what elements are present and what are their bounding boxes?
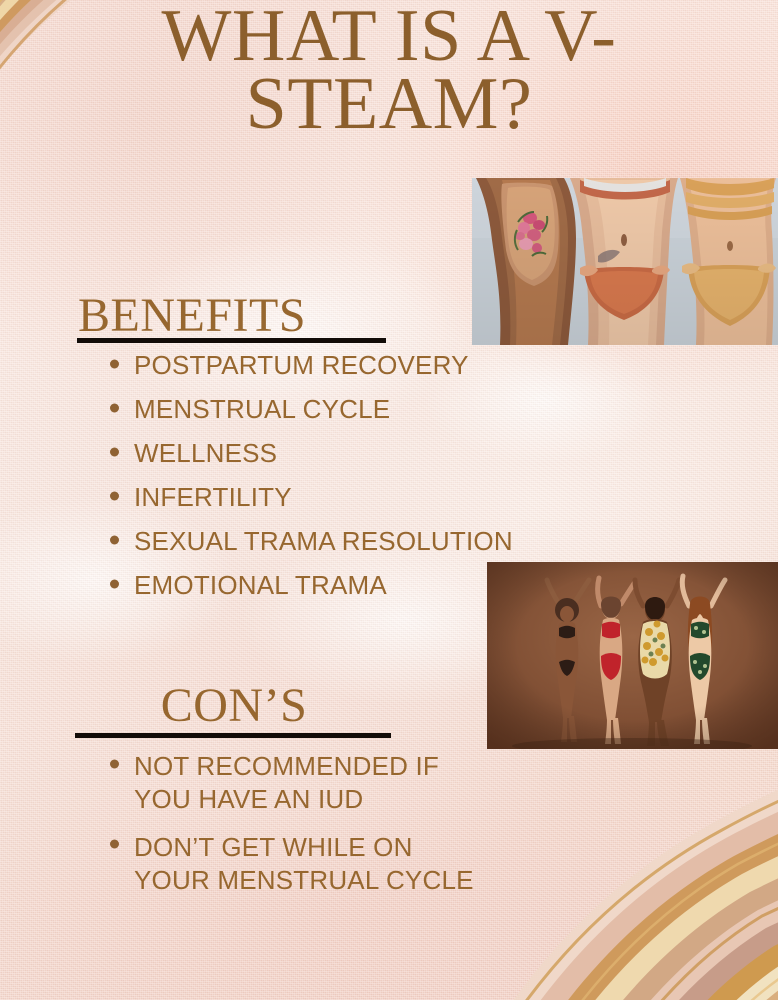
- list-item: POSTPARTUM RECOVERY: [104, 350, 624, 381]
- list-item: EMOTIONAL TRAMA: [104, 570, 624, 601]
- list-item-label: MENSTRUAL CYCLE: [134, 394, 390, 425]
- list-item: NOT RECOMMENDED IF YOU HAVE AN IUD: [104, 750, 494, 817]
- list-item-label: WELLNESS: [134, 438, 277, 469]
- bullet-icon: [110, 840, 119, 849]
- page-title-line-2: STEAM?: [0, 70, 778, 138]
- bullet-icon: [110, 579, 119, 588]
- list-item-label: POSTPARTUM RECOVERY: [134, 350, 469, 381]
- list-item: INFERTILITY: [104, 482, 624, 513]
- cons-underline-rule: [75, 733, 391, 738]
- list-item: MENSTRUAL CYCLE: [104, 394, 624, 425]
- benefits-list: POSTPARTUM RECOVERY MENSTRUAL CYCLE WELL…: [104, 350, 624, 614]
- list-item-label: INFERTILITY: [134, 482, 292, 513]
- bullet-icon: [110, 491, 119, 500]
- list-item-label: SEXUAL TRAMA RESOLUTION: [134, 526, 513, 557]
- page-title: WHAT IS A V- STEAM?: [0, 2, 778, 138]
- list-item: DON’T GET WHILE ON YOUR MENSTRUAL CYCLE: [104, 831, 494, 898]
- list-item-label: NOT RECOMMENDED IF YOU HAVE AN IUD: [134, 751, 439, 814]
- bullet-icon: [110, 403, 119, 412]
- list-item-label: DON’T GET WHILE ON YOUR MENSTRUAL CYCLE: [134, 832, 474, 895]
- bullet-icon: [110, 359, 119, 368]
- cons-heading-text: CON’S: [78, 682, 390, 730]
- poster-canvas: WHAT IS A V- STEAM?: [0, 0, 778, 1000]
- benefits-underline-rule: [77, 338, 386, 343]
- benefits-heading-text: BENEFITS: [78, 292, 306, 340]
- list-item: WELLNESS: [104, 438, 624, 469]
- list-item-label: EMOTIONAL TRAMA: [134, 570, 387, 601]
- bullet-icon: [110, 759, 119, 768]
- bullet-icon: [110, 447, 119, 456]
- list-item: SEXUAL TRAMA RESOLUTION: [104, 526, 624, 557]
- cons-list: NOT RECOMMENDED IF YOU HAVE AN IUD DON’T…: [104, 750, 494, 911]
- bullet-icon: [110, 535, 119, 544]
- benefits-heading: BENEFITS: [78, 292, 306, 340]
- page-title-line-1: WHAT IS A V-: [0, 2, 778, 70]
- cons-heading: CON’S: [78, 682, 390, 730]
- three-women-swimwear-torsos-photo: [472, 178, 778, 345]
